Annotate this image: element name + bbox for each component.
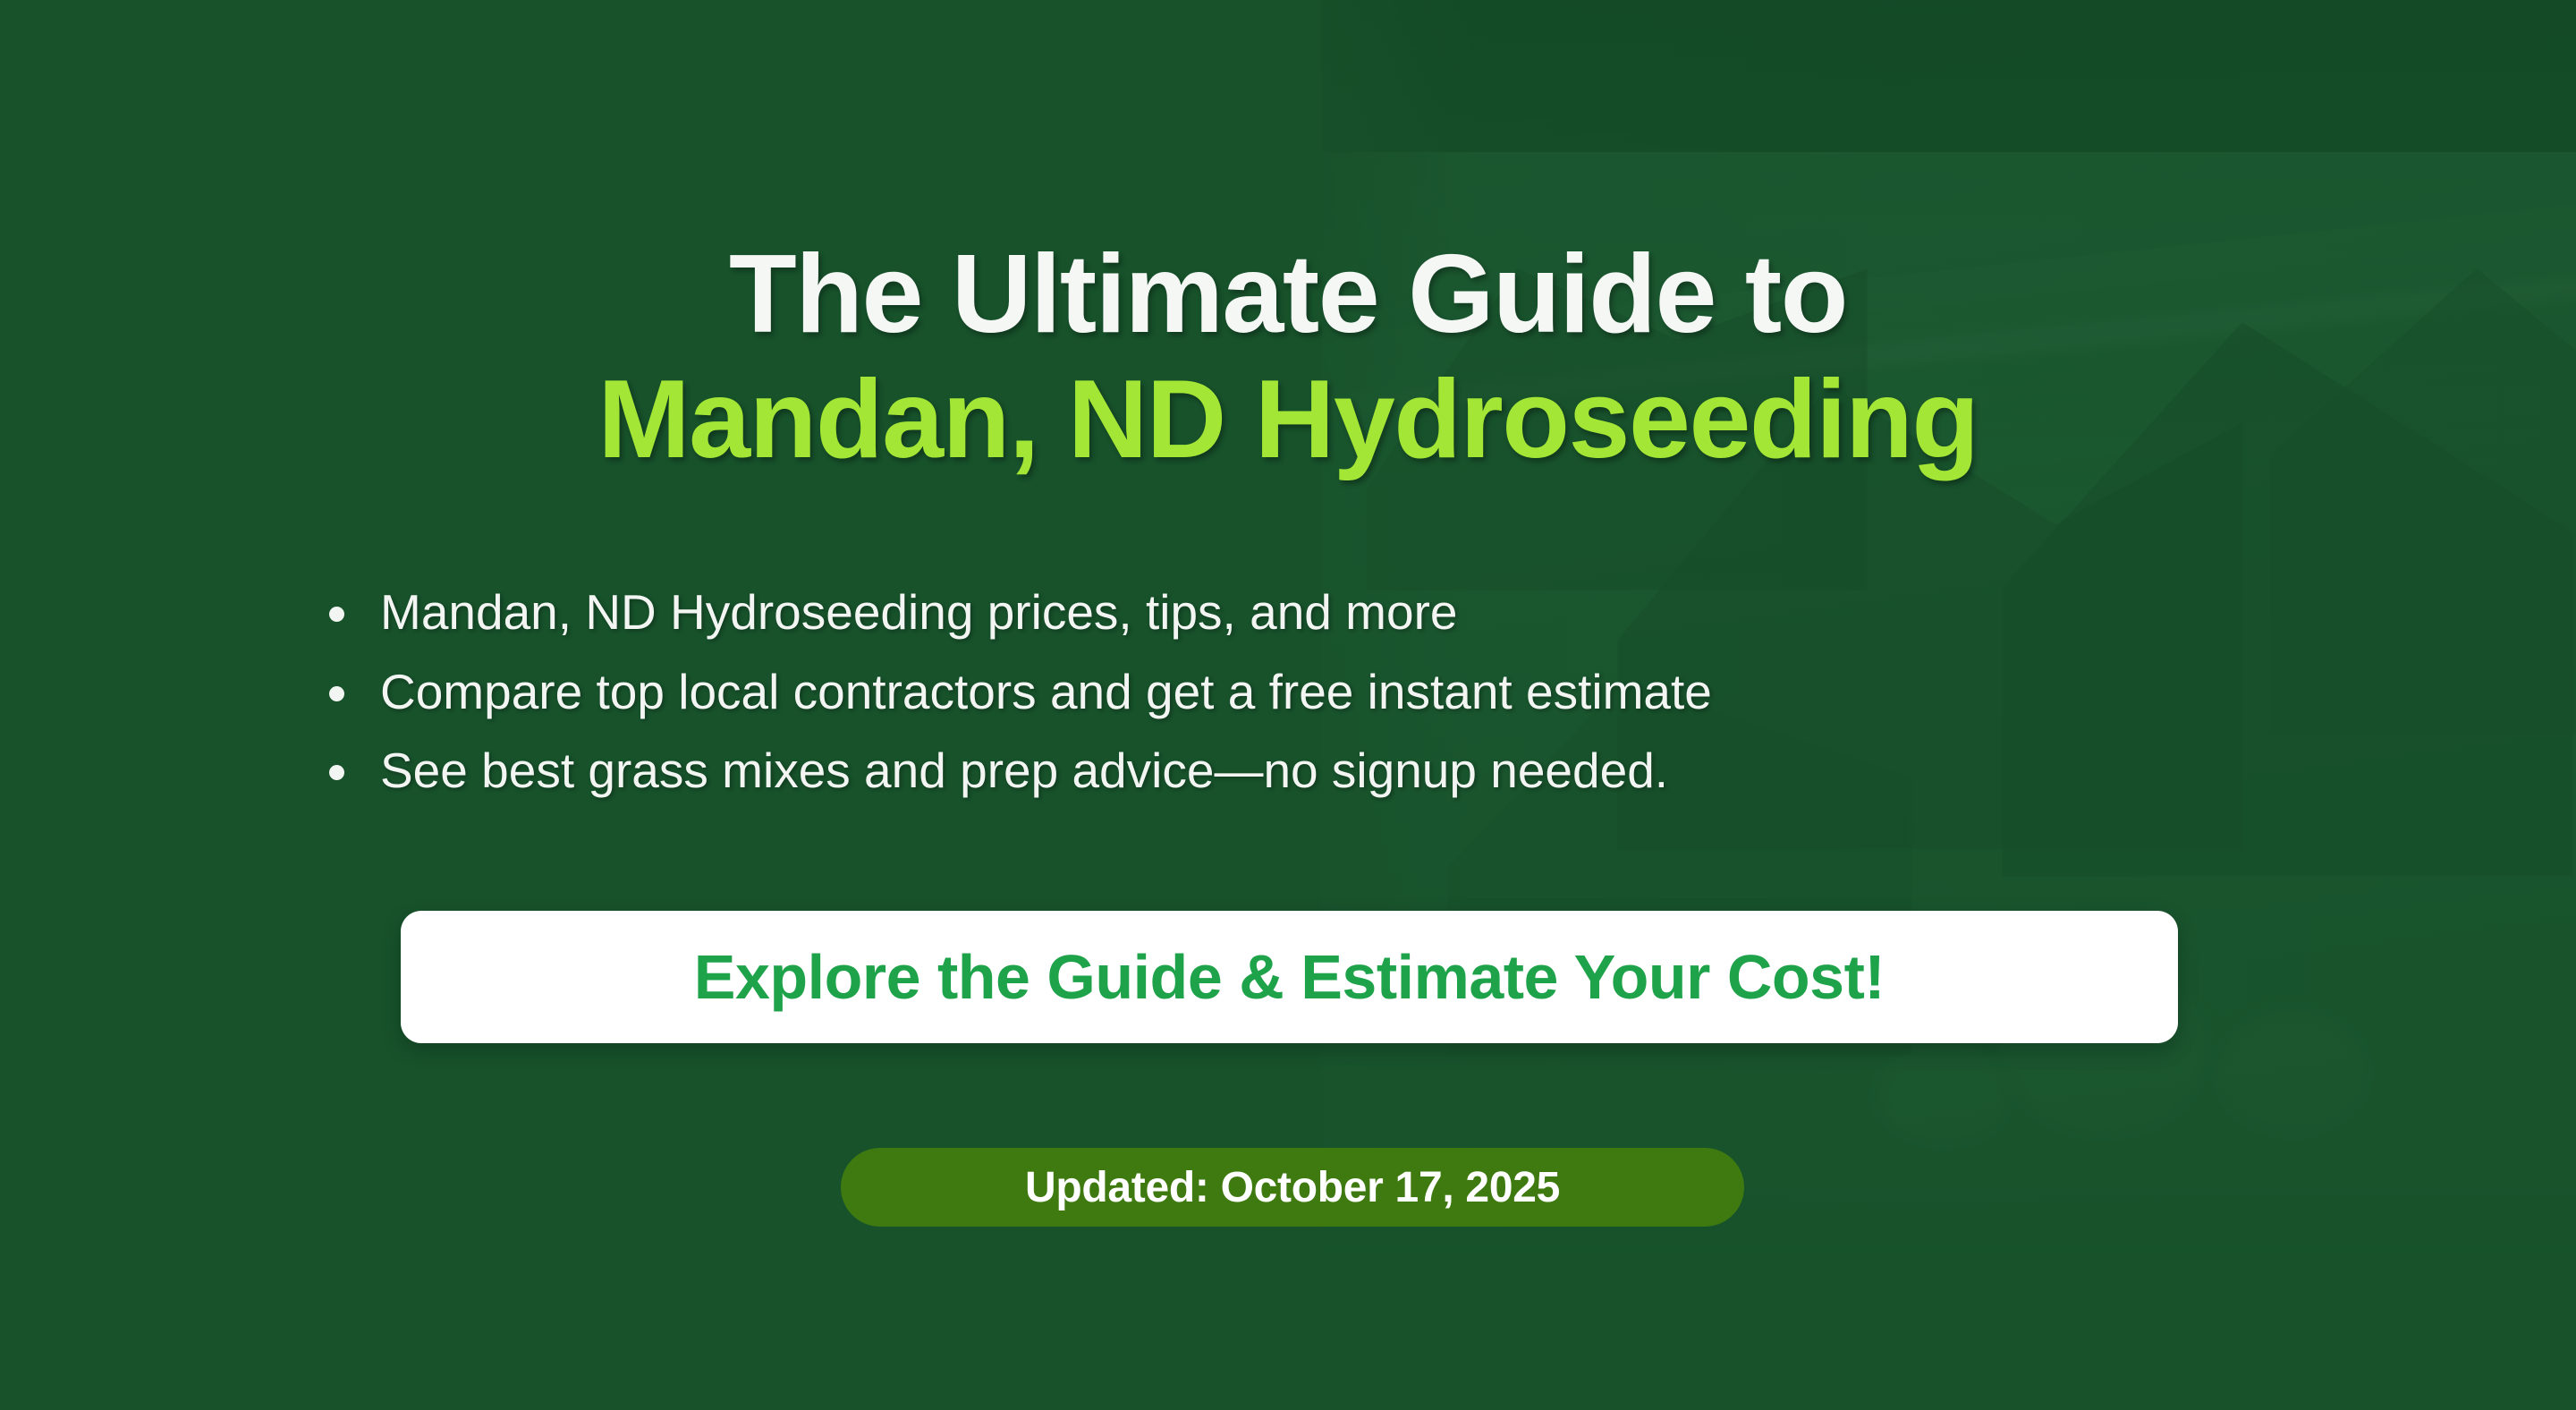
list-item: Compare top local contractors and get a … xyxy=(322,665,1712,720)
list-item-label: Mandan, ND Hydroseeding prices, tips, an… xyxy=(380,584,1457,640)
list-item: See best grass mixes and prep advice—no … xyxy=(322,743,1712,799)
explore-guide-estimate-button[interactable]: Explore the Guide & Estimate Your Cost! xyxy=(401,911,2178,1043)
updated-date-label: Updated: October 17, 2025 xyxy=(1025,1163,1560,1212)
list-item: Mandan, ND Hydroseeding prices, tips, an… xyxy=(322,585,1712,641)
list-item-label: See best grass mixes and prep advice—no … xyxy=(380,743,1668,798)
explore-guide-estimate-label: Explore the Guide & Estimate Your Cost! xyxy=(694,941,1885,1013)
bullet-dot-icon xyxy=(329,607,344,622)
feature-bullet-list: Mandan, ND Hydroseeding prices, tips, an… xyxy=(322,585,1712,799)
hero-content: The Ultimate Guide to Mandan, ND Hydrose… xyxy=(0,0,2576,1410)
page-title-line-2: Mandan, ND Hydroseeding xyxy=(0,357,2576,482)
list-item-label: Compare top local contractors and get a … xyxy=(380,664,1712,719)
bullet-dot-icon xyxy=(329,686,344,701)
hero-banner: The Ultimate Guide to Mandan, ND Hydrose… xyxy=(0,0,2576,1410)
bullet-dot-icon xyxy=(329,765,344,780)
page-title-line-1: The Ultimate Guide to xyxy=(0,232,2576,357)
page-title: The Ultimate Guide to Mandan, ND Hydrose… xyxy=(0,232,2576,482)
updated-date-badge: Updated: October 17, 2025 xyxy=(841,1148,1744,1227)
